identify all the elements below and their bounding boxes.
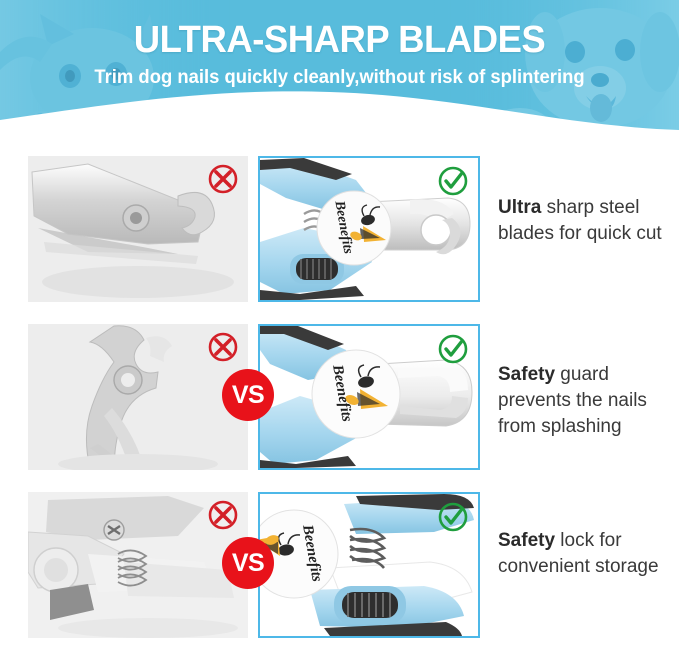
green-circle-check-icon: [436, 164, 470, 198]
page-title: ULTRA-SHARP BLADES: [14, 0, 666, 62]
red-circle-x-icon: [206, 330, 240, 364]
feature-text-2: Safety guard prevents the nails from spl…: [498, 362, 674, 440]
good-product-panel-1: Beenefits: [258, 156, 480, 302]
feature-lead-3: Safety: [498, 530, 555, 551]
feature-lead-2: Safety: [498, 364, 555, 385]
good-product-panel-2: Beenefits: [258, 324, 480, 470]
header-wave-divider: [0, 86, 679, 146]
bad-product-panel-1: [28, 156, 248, 302]
bad-product-panel-3: [28, 492, 248, 638]
brand-disc-2: Beenefits: [312, 350, 400, 438]
feature-lead-1: Ultra: [498, 197, 541, 218]
red-circle-x-icon: [206, 162, 240, 196]
vs-badge-3: VS: [222, 537, 274, 589]
green-circle-check-icon: [436, 332, 470, 366]
green-circle-check-icon: [436, 500, 470, 534]
feature-text-3: Safety lock for convenient storage: [498, 528, 674, 580]
bad-product-panel-2: [28, 324, 248, 470]
page-subtitle: Trim dog nails quickly cleanly,without r…: [10, 62, 669, 90]
red-circle-x-icon: [206, 498, 240, 532]
feature-text-1: Ultra sharp steel blades for quick cut: [498, 195, 674, 247]
good-product-panel-3: Beenefits: [258, 492, 480, 638]
vs-badge-2: VS: [222, 369, 274, 421]
brand-disc-1: Beenefits: [317, 191, 391, 265]
header-text-block: ULTRA-SHARP BLADES Trim dog nails quickl…: [0, 0, 679, 90]
header-banner: ULTRA-SHARP BLADES Trim dog nails quickl…: [0, 0, 679, 146]
